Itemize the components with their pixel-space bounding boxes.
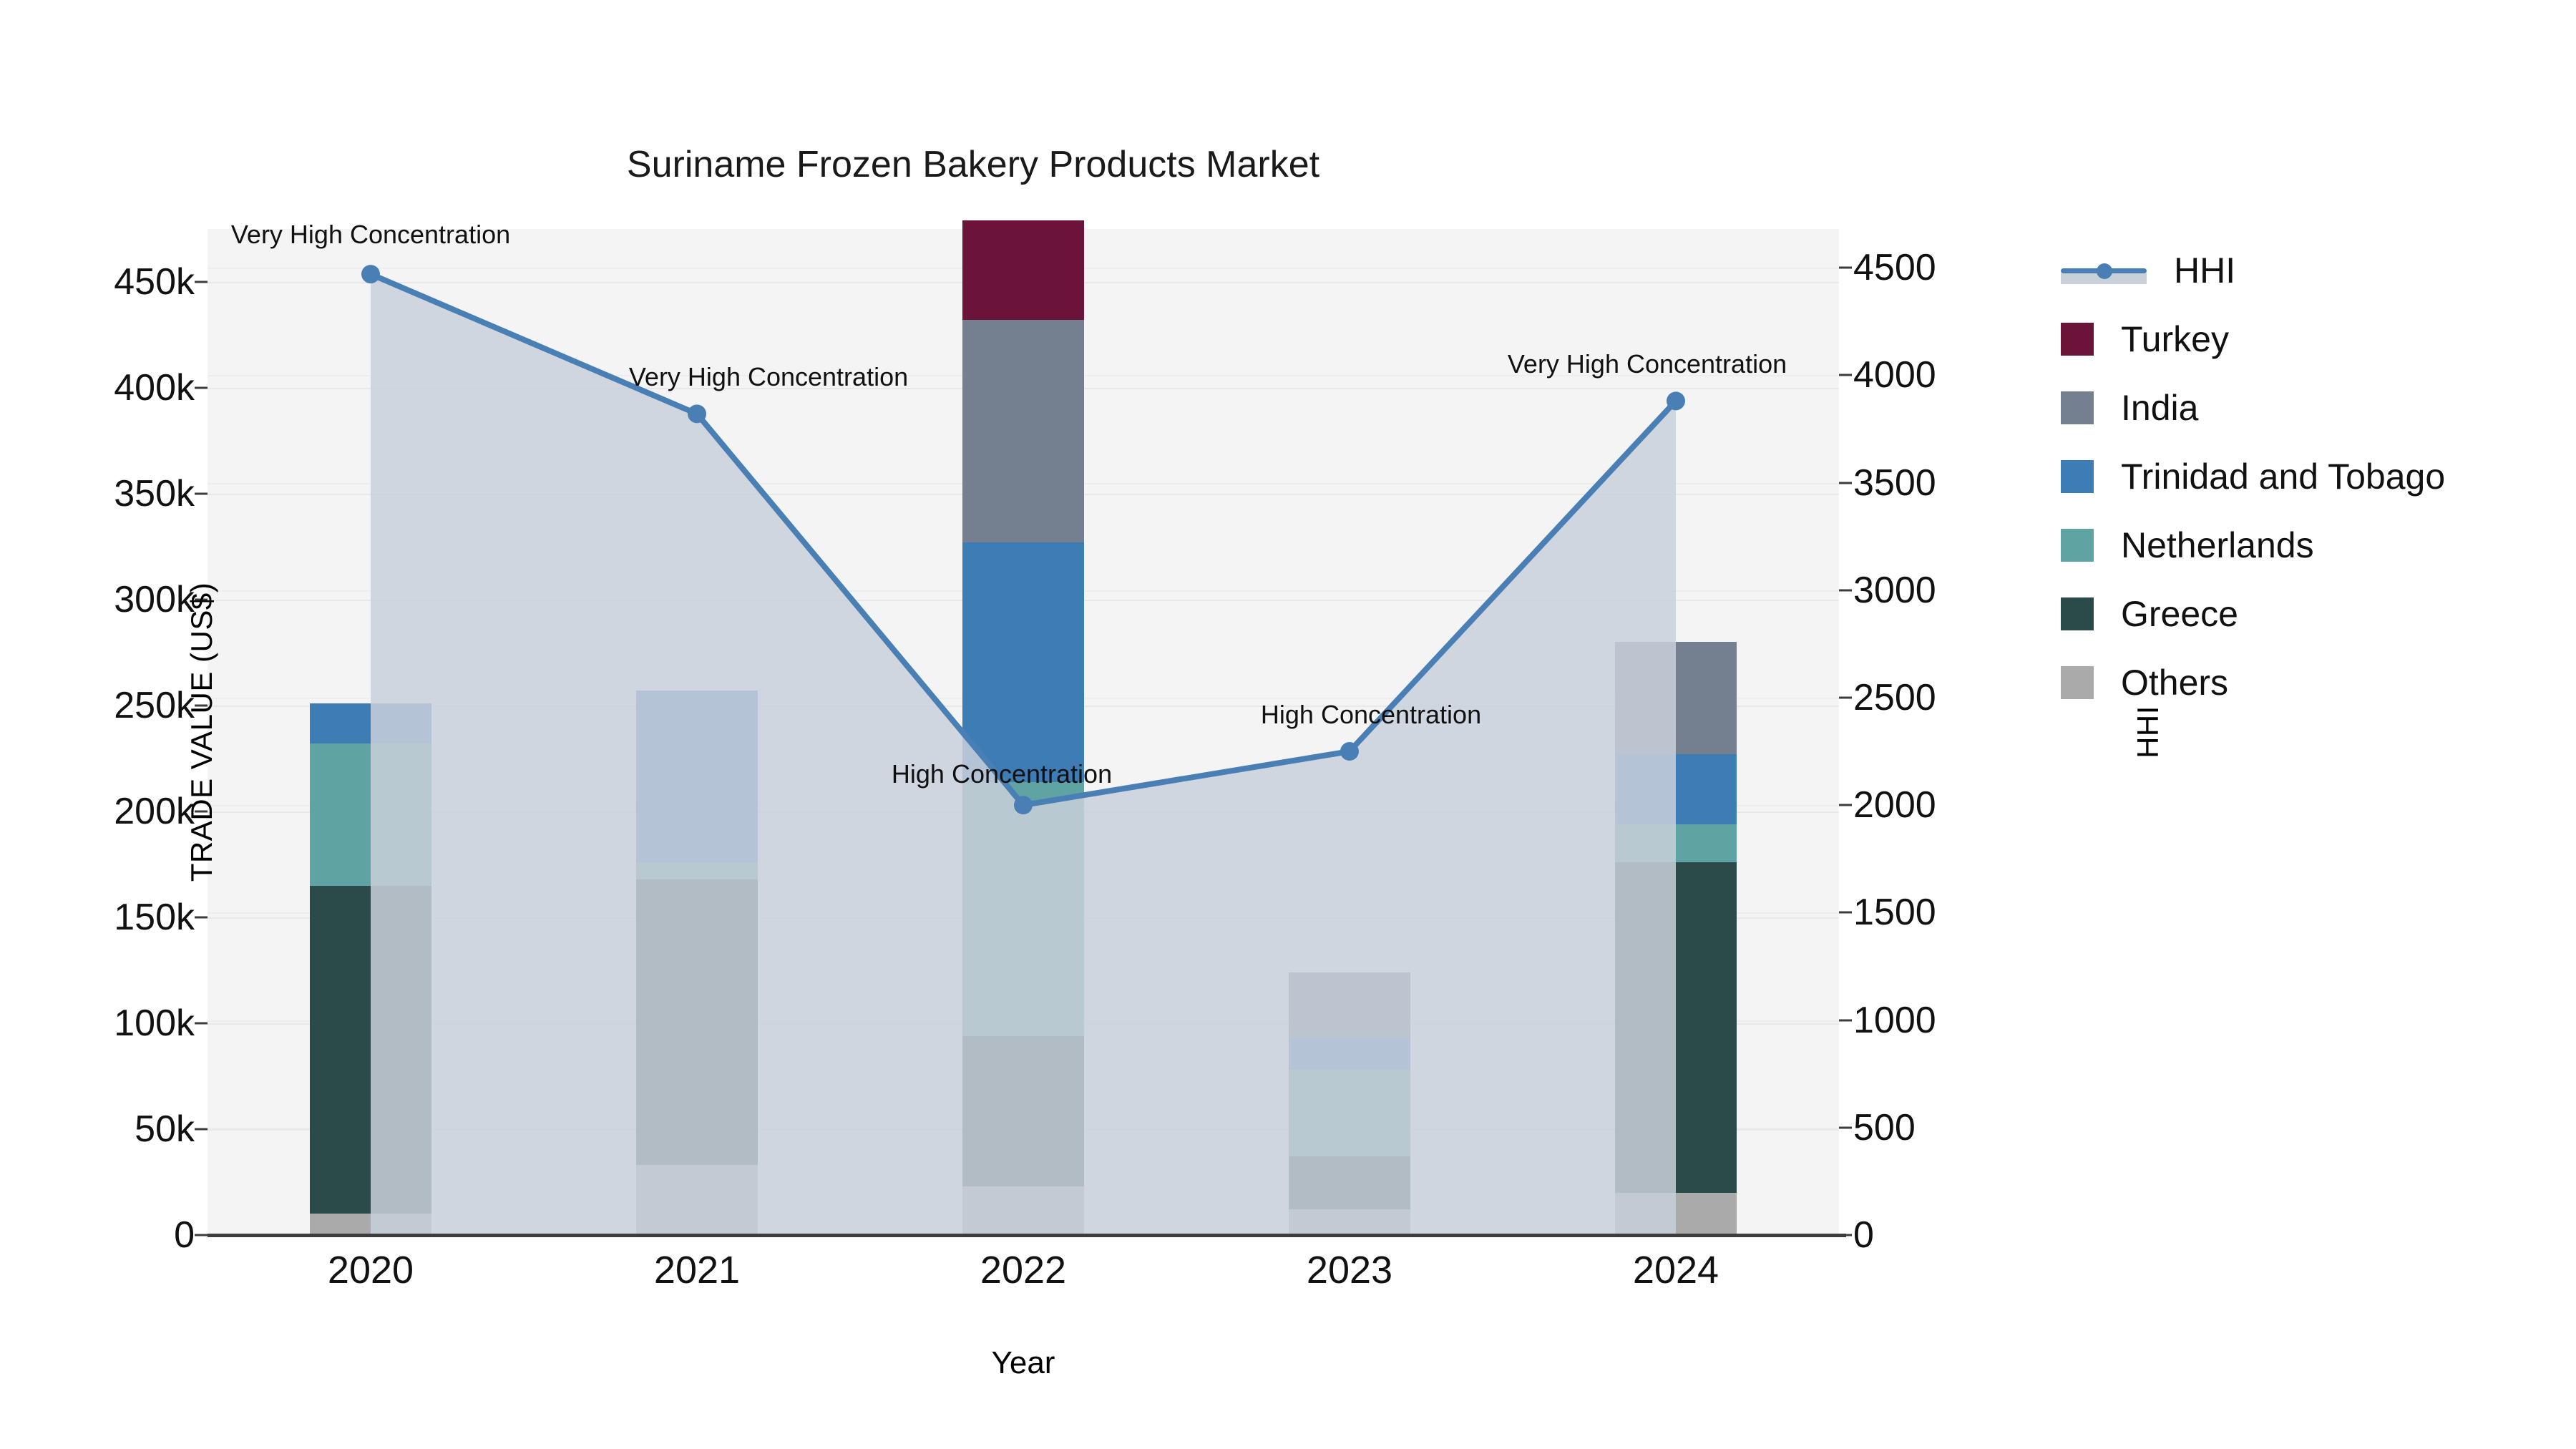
x-axis-tick-label-2024: 2024	[1561, 1248, 1790, 1292]
y-axis-left-tick-label: 0	[0, 1214, 195, 1257]
x-axis-line	[208, 1234, 1846, 1237]
legend: HHITurkeyIndiaTrinidad and TobagoNetherl…	[2061, 236, 2445, 717]
legend-line-marker-icon	[2061, 254, 2147, 287]
chart-root: Suriname Frozen Bakery Products Market I…	[0, 0, 2576, 1449]
bar-segment-turkey-2022[interactable]	[962, 220, 1084, 320]
y-axis-right-tick-label: 2000	[1853, 784, 2068, 826]
bar-segment-netherlands-2020[interactable]	[310, 743, 431, 885]
bar-stack-2020[interactable]	[310, 229, 431, 1235]
chart-title-line-1: Suriname Frozen Bakery Products Market	[0, 142, 1946, 187]
x-axis-tick-label-2021: 2021	[582, 1248, 811, 1292]
legend-item-others[interactable]: Others	[2061, 648, 2445, 717]
y-axis-right-tick-label: 3500	[1853, 462, 2068, 504]
annotation-2020: Very High Concentration	[231, 220, 510, 250]
y-axis-left-tick-label: 350k	[0, 472, 195, 515]
y-axis-right-tick-mark	[1839, 482, 1852, 484]
bar-segment-india-2024[interactable]	[1615, 642, 1737, 754]
annotation-2021: Very High Concentration	[629, 362, 908, 392]
plot-area: 050k100k150k200k250k300k350k400k450k 050…	[208, 229, 1839, 1235]
legend-item-greece[interactable]: Greece	[2061, 580, 2445, 648]
bar-stack-2023[interactable]	[1289, 229, 1410, 1235]
legend-item-netherlands[interactable]: Netherlands	[2061, 511, 2445, 580]
bar-stack-2024[interactable]	[1615, 229, 1737, 1235]
legend-swatch-icon	[2061, 597, 2094, 630]
legend-label: India	[2121, 387, 2198, 429]
bar-segment-india-2023[interactable]	[1289, 972, 1410, 1038]
legend-label: Others	[2121, 662, 2228, 703]
y-axis-right-tick-label: 500	[1853, 1106, 2068, 1149]
bar-segment-others-2021[interactable]	[636, 1165, 758, 1235]
bar-segment-trinidad-and-tobago-2020[interactable]	[310, 703, 431, 743]
annotation-2022: High Concentration	[892, 759, 1112, 789]
bar-segment-netherlands-2023[interactable]	[1289, 1070, 1410, 1156]
legend-swatch-icon	[2061, 323, 2094, 356]
y-axis-right-tick-mark	[1839, 267, 1852, 269]
legend-item-turkey[interactable]: Turkey	[2061, 305, 2445, 374]
legend-swatch-icon	[2061, 529, 2094, 562]
y-axis-right-tick-mark	[1839, 804, 1852, 806]
bar-segment-trinidad-and-tobago-2024[interactable]	[1615, 754, 1737, 824]
legend-swatch-icon	[2061, 460, 2094, 493]
legend-swatch-icon	[2061, 391, 2094, 424]
bar-segment-others-2024[interactable]	[1615, 1193, 1737, 1235]
y-axis-left-tick-label: 200k	[0, 790, 195, 833]
legend-item-india[interactable]: India	[2061, 374, 2445, 442]
legend-label: Netherlands	[2121, 525, 2314, 566]
x-axis-tick-label-2020: 2020	[256, 1248, 485, 1292]
x-axis-tick-label-2023: 2023	[1235, 1248, 1464, 1292]
bar-segment-others-2020[interactable]	[310, 1214, 431, 1235]
bar-segment-trinidad-and-tobago-2022[interactable]	[962, 542, 1084, 781]
y-axis-right-tick-label: 1000	[1853, 999, 2068, 1042]
y-axis-right-tick-mark	[1839, 1019, 1852, 1021]
y-axis-right-tick-mark	[1839, 1126, 1852, 1128]
bar-segment-greece-2021[interactable]	[636, 879, 758, 1166]
legend-swatch-icon	[2061, 666, 2094, 699]
y-axis-right-tick-mark	[1839, 696, 1852, 698]
y-axis-right-tick-label: 1500	[1853, 891, 2068, 934]
annotation-2024: Very High Concentration	[1508, 349, 1787, 379]
bar-segment-netherlands-2022[interactable]	[962, 782, 1084, 1036]
bar-segment-netherlands-2021[interactable]	[636, 862, 758, 879]
bar-segment-greece-2024[interactable]	[1615, 862, 1737, 1193]
bar-segment-trinidad-and-tobago-2021[interactable]	[636, 691, 758, 862]
y-axis-left-tick-label: 50k	[0, 1108, 195, 1151]
y-axis-right-tick-label: 4500	[1853, 246, 2068, 289]
bar-segment-greece-2023[interactable]	[1289, 1156, 1410, 1209]
x-axis-label: Year	[208, 1345, 1839, 1381]
bar-segment-india-2022[interactable]	[962, 320, 1084, 542]
legend-label: Greece	[2121, 593, 2238, 635]
y-axis-right-tick-label: 0	[1853, 1214, 2068, 1257]
y-axis-left-label: TRADE VALUE (US$)	[185, 229, 219, 1235]
y-axis-left-tick-label: 300k	[0, 578, 195, 621]
legend-label: Trinidad and Tobago	[2121, 456, 2445, 497]
y-axis-right-tick-mark	[1839, 912, 1852, 914]
bar-segment-trinidad-and-tobago-2023[interactable]	[1289, 1038, 1410, 1070]
legend-label: HHI	[2174, 250, 2235, 291]
bar-stack-2022[interactable]	[962, 229, 1084, 1235]
y-axis-right-tick-mark	[1839, 374, 1852, 376]
y-axis-left-tick-label: 250k	[0, 684, 195, 727]
legend-item-trinidad-and-tobago[interactable]: Trinidad and Tobago	[2061, 442, 2445, 511]
bar-segment-others-2023[interactable]	[1289, 1209, 1410, 1235]
y-axis-left-tick-label: 150k	[0, 896, 195, 939]
bar-segment-greece-2022[interactable]	[962, 1036, 1084, 1186]
legend-label: Turkey	[2121, 318, 2229, 360]
bar-segment-netherlands-2024[interactable]	[1615, 824, 1737, 862]
y-axis-left-tick-label: 450k	[0, 260, 195, 303]
y-axis-left-tick-label: 400k	[0, 366, 195, 409]
x-axis-tick-label-2022: 2022	[909, 1248, 1138, 1292]
y-axis-right-tick-label: 4000	[1853, 353, 2068, 396]
y-axis-left-tick-label: 100k	[0, 1002, 195, 1045]
y-axis-right-tick-label: 3000	[1853, 569, 2068, 612]
y-axis-right-tick-label: 2500	[1853, 676, 2068, 719]
bar-segment-others-2022[interactable]	[962, 1186, 1084, 1235]
legend-item-hhi[interactable]: HHI	[2061, 236, 2445, 305]
bar-segment-greece-2020[interactable]	[310, 886, 431, 1214]
annotation-2023: High Concentration	[1261, 700, 1481, 730]
y-axis-right-tick-mark	[1839, 589, 1852, 591]
